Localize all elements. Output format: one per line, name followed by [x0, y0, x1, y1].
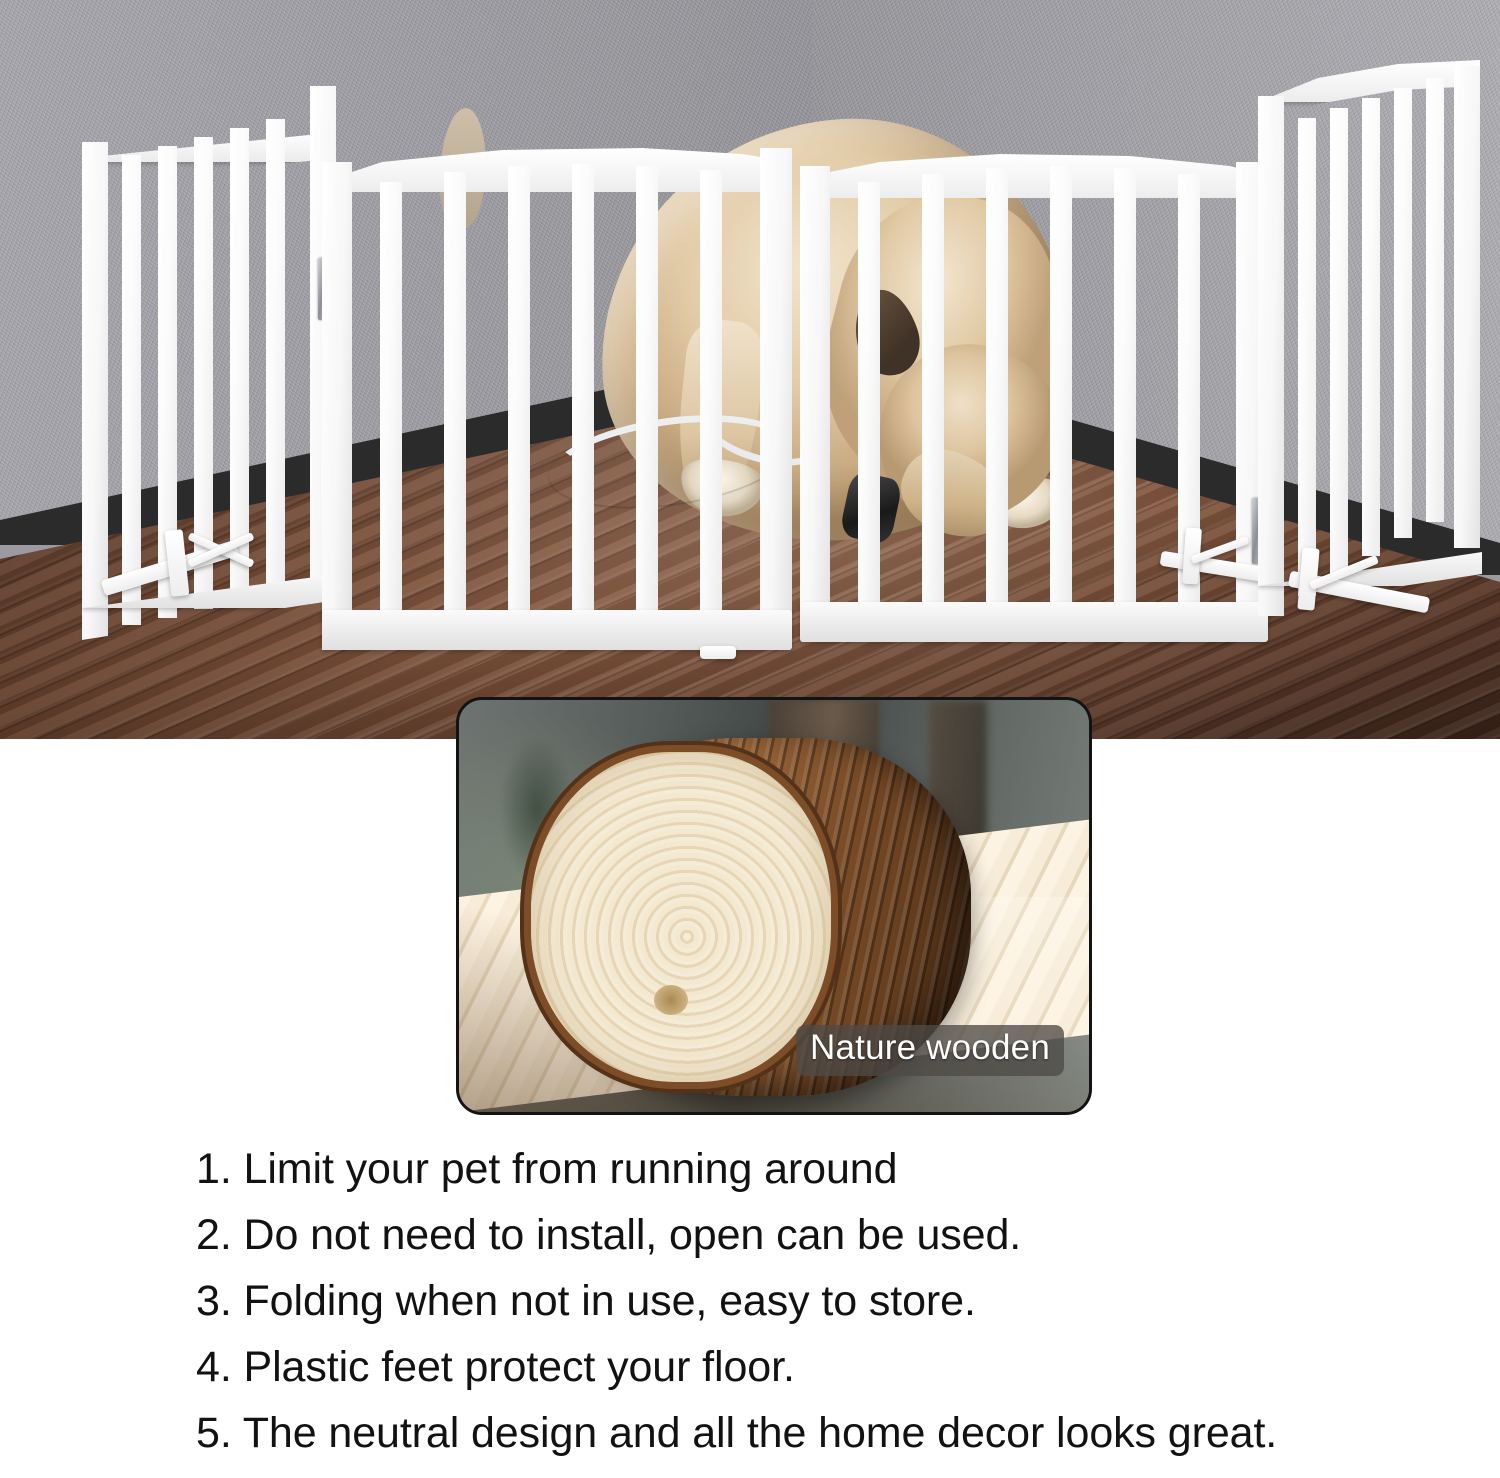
panel-b-slat: [572, 164, 594, 622]
gate-panel-left-center[interactable]: [322, 140, 792, 660]
feature-item-5: 5. The neutral design and all the home d…: [196, 1400, 1476, 1466]
panel-b-slat: [380, 182, 402, 622]
panel-d-slat: [1330, 108, 1348, 576]
hero-product-photo: [0, 0, 1500, 739]
feature-item-2: 2. Do not need to install, open can be u…: [196, 1202, 1476, 1268]
panel-c-bottom-rail: [800, 602, 1268, 642]
panel-a-slat: [230, 128, 249, 600]
panel-b-right-stile: [760, 148, 792, 648]
panel-c-slat: [922, 174, 944, 614]
log-pith-center: [654, 985, 688, 1015]
panel-c-slat: [986, 168, 1008, 614]
panel-a-left-stile: [82, 142, 108, 642]
panel-d-slat: [1298, 118, 1316, 596]
feature-list: 1. Limit your pet from running around 2.…: [196, 1136, 1476, 1466]
panel-d-slat: [1426, 78, 1444, 522]
panel-b-slat: [508, 166, 530, 622]
log-cut-face-rings: [531, 752, 831, 1082]
panel-d-top-rail: [1258, 60, 1480, 102]
panel-d-right-stile: [1454, 66, 1480, 548]
feature-item-3: 3. Folding when not in use, easy to stor…: [196, 1268, 1476, 1334]
feature-item-4: 4. Plastic feet protect your floor.: [196, 1334, 1476, 1400]
panel-d-slat: [1362, 98, 1380, 556]
panel-c-left-stile: [800, 166, 830, 638]
inset-wood-photo: Nature wooden: [456, 697, 1092, 1115]
panel-d-slat: [1394, 88, 1412, 538]
panel-b-slat: [700, 170, 722, 622]
panel-a-slat: [122, 155, 141, 625]
panel-c-slat: [1114, 168, 1136, 614]
panel-c-slat: [1050, 166, 1072, 614]
panel-b-slat: [636, 166, 658, 622]
panel-b-floor-pad: [700, 646, 736, 659]
panel-a-slat: [266, 119, 285, 591]
feature-item-1: 1. Limit your pet from running around: [196, 1136, 1476, 1202]
nature-wooden-badge: Nature wooden: [796, 1025, 1064, 1076]
panel-d-left-stile: [1258, 96, 1284, 616]
panel-c-slat: [858, 182, 880, 614]
panel-b-slat: [444, 172, 466, 622]
panel-b-left-stile: [322, 162, 352, 650]
panel-b-bottom-rail: [322, 610, 792, 650]
